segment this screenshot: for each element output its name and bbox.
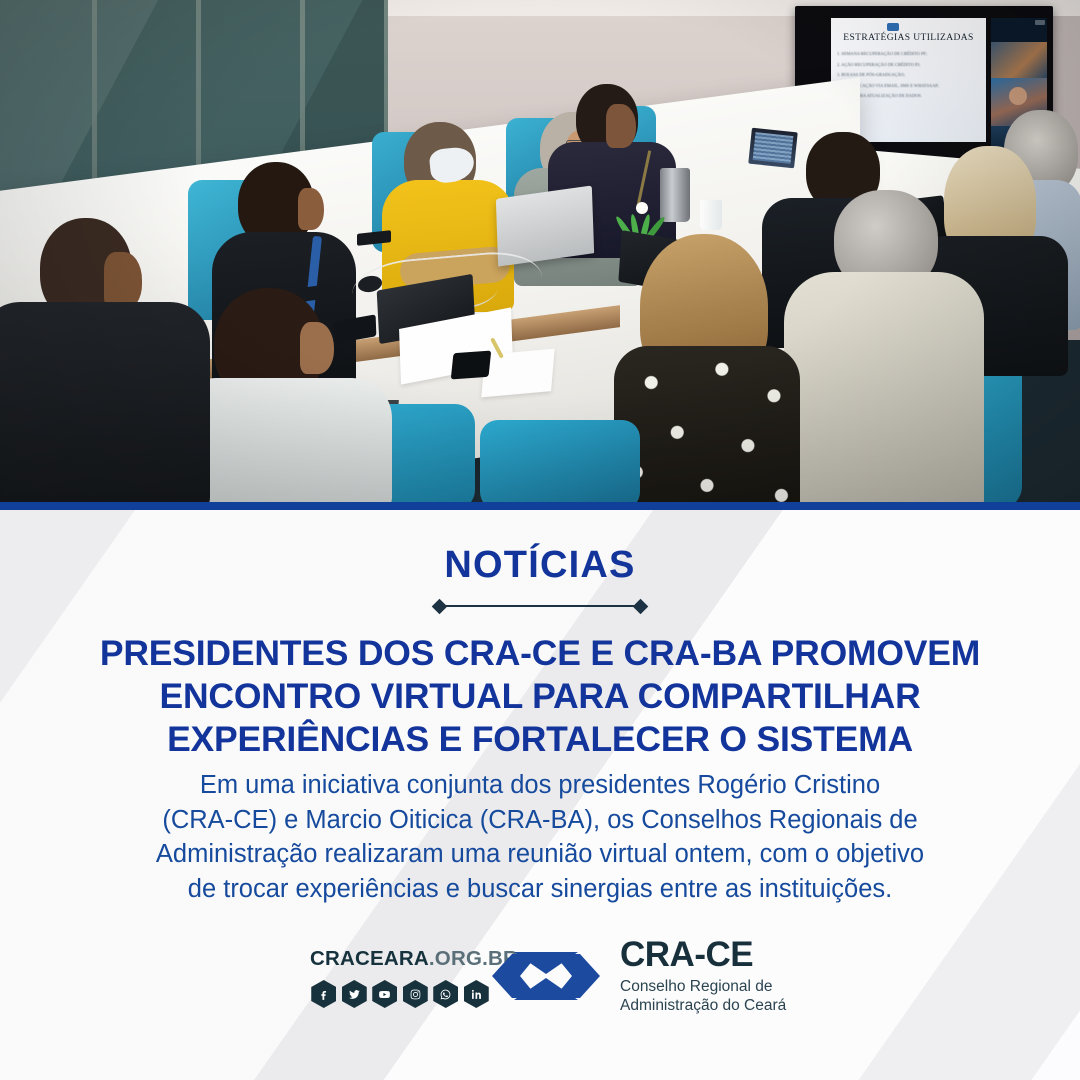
laptop bbox=[748, 128, 798, 169]
lede-line: Em uma iniciativa conjunta dos president… bbox=[110, 768, 970, 803]
logo-subtitle: Conselho Regional de Administração do Ce… bbox=[620, 978, 786, 1016]
logo-subtitle-line: Administração do Ceará bbox=[620, 997, 786, 1016]
headline-line: EXPERIÊNCIAS E FORTALECER O SISTEMA bbox=[70, 718, 1010, 761]
diamond-right-icon bbox=[633, 599, 649, 615]
attendee-body bbox=[614, 346, 800, 506]
video-toolbar-icon bbox=[1035, 20, 1045, 25]
attendee-body bbox=[0, 302, 210, 506]
headline-line: PRESIDENTES DOS CRA-CE E CRA-BA PROMOVEM bbox=[70, 632, 1010, 675]
instagram-icon[interactable] bbox=[403, 980, 428, 1008]
logo-text: CRA-CE Conselho Regional de Administraçã… bbox=[620, 937, 786, 1016]
video-participant-tile bbox=[991, 42, 1047, 78]
logo-subtitle-line: Conselho Regional de bbox=[620, 978, 786, 997]
divider-line bbox=[440, 605, 640, 607]
whatsapp-icon[interactable] bbox=[433, 980, 458, 1008]
news-card: ESTRATÉGIAS UTILIZADAS 1. SEMANA RECUPER… bbox=[0, 0, 1080, 1080]
lede-line: Administração realizaram uma reunião vir… bbox=[110, 837, 970, 872]
slide-title: ESTRATÉGIAS UTILIZADAS bbox=[831, 33, 986, 43]
lede-paragraph: Em uma iniciativa conjunta dos president… bbox=[110, 768, 970, 907]
hero-photo: ESTRATÉGIAS UTILIZADAS 1. SEMANA RECUPER… bbox=[0, 0, 1080, 506]
social-links bbox=[310, 980, 490, 1008]
cra-bowtie-mark-icon bbox=[488, 938, 604, 1014]
facebook-icon[interactable] bbox=[311, 980, 336, 1008]
kicker-block: NOTÍCIAS bbox=[0, 544, 1080, 613]
attendee-face bbox=[300, 322, 334, 374]
lede-line: (CRA-CE) e Marcio Oiticica (CRA-BA), os … bbox=[110, 803, 970, 838]
slide-bullet: 3. BOLSAS DE PÓS-GRADUAÇÃO; bbox=[837, 72, 980, 77]
content-area: NOTÍCIAS PRESIDENTES DOS CRA-CE E CRA-BA… bbox=[0, 510, 1080, 1080]
attendee-face bbox=[298, 188, 324, 230]
headline-line: ENCONTRO VIRTUAL PARA COMPARTILHAR bbox=[70, 675, 1010, 718]
plant-flower bbox=[636, 202, 648, 214]
attendee-face bbox=[606, 104, 636, 148]
lede-line: de trocar experiências e buscar sinergia… bbox=[110, 872, 970, 907]
kicker-label: NOTÍCIAS bbox=[0, 544, 1080, 587]
site-block: CRACEARA.ORG.BR bbox=[310, 947, 490, 1008]
youtube-icon[interactable] bbox=[372, 980, 397, 1008]
drinking-glass bbox=[700, 200, 722, 230]
logo-title: CRA-CE bbox=[620, 937, 786, 972]
headline: PRESIDENTES DOS CRA-CE E CRA-BA PROMOVEM… bbox=[70, 632, 1010, 761]
slide-bullet: 1. SEMANA RECUPERAÇÃO DE CRÉDITO PF; bbox=[837, 51, 980, 56]
slide-bullet: 2. AÇÃO RECUPERAÇÃO DE CRÉDITO PJ; bbox=[837, 62, 980, 67]
website-name: CRACEARA bbox=[310, 947, 429, 970]
blue-divider-bar bbox=[0, 502, 1080, 510]
footer: CRACEARA.ORG.BR bbox=[0, 935, 1080, 1045]
website-url[interactable]: CRACEARA.ORG.BR bbox=[310, 947, 490, 971]
smartphone bbox=[451, 350, 492, 379]
office-chair bbox=[480, 420, 640, 506]
cra-ce-logo: CRA-CE Conselho Regional de Administraçã… bbox=[488, 937, 786, 1016]
divider-ornament bbox=[434, 599, 646, 613]
slide-logo-icon bbox=[887, 23, 899, 31]
twitter-icon[interactable] bbox=[342, 980, 367, 1008]
paper-sheet bbox=[481, 349, 554, 398]
linkedin-icon[interactable] bbox=[464, 980, 489, 1008]
attendee-body bbox=[784, 272, 984, 506]
